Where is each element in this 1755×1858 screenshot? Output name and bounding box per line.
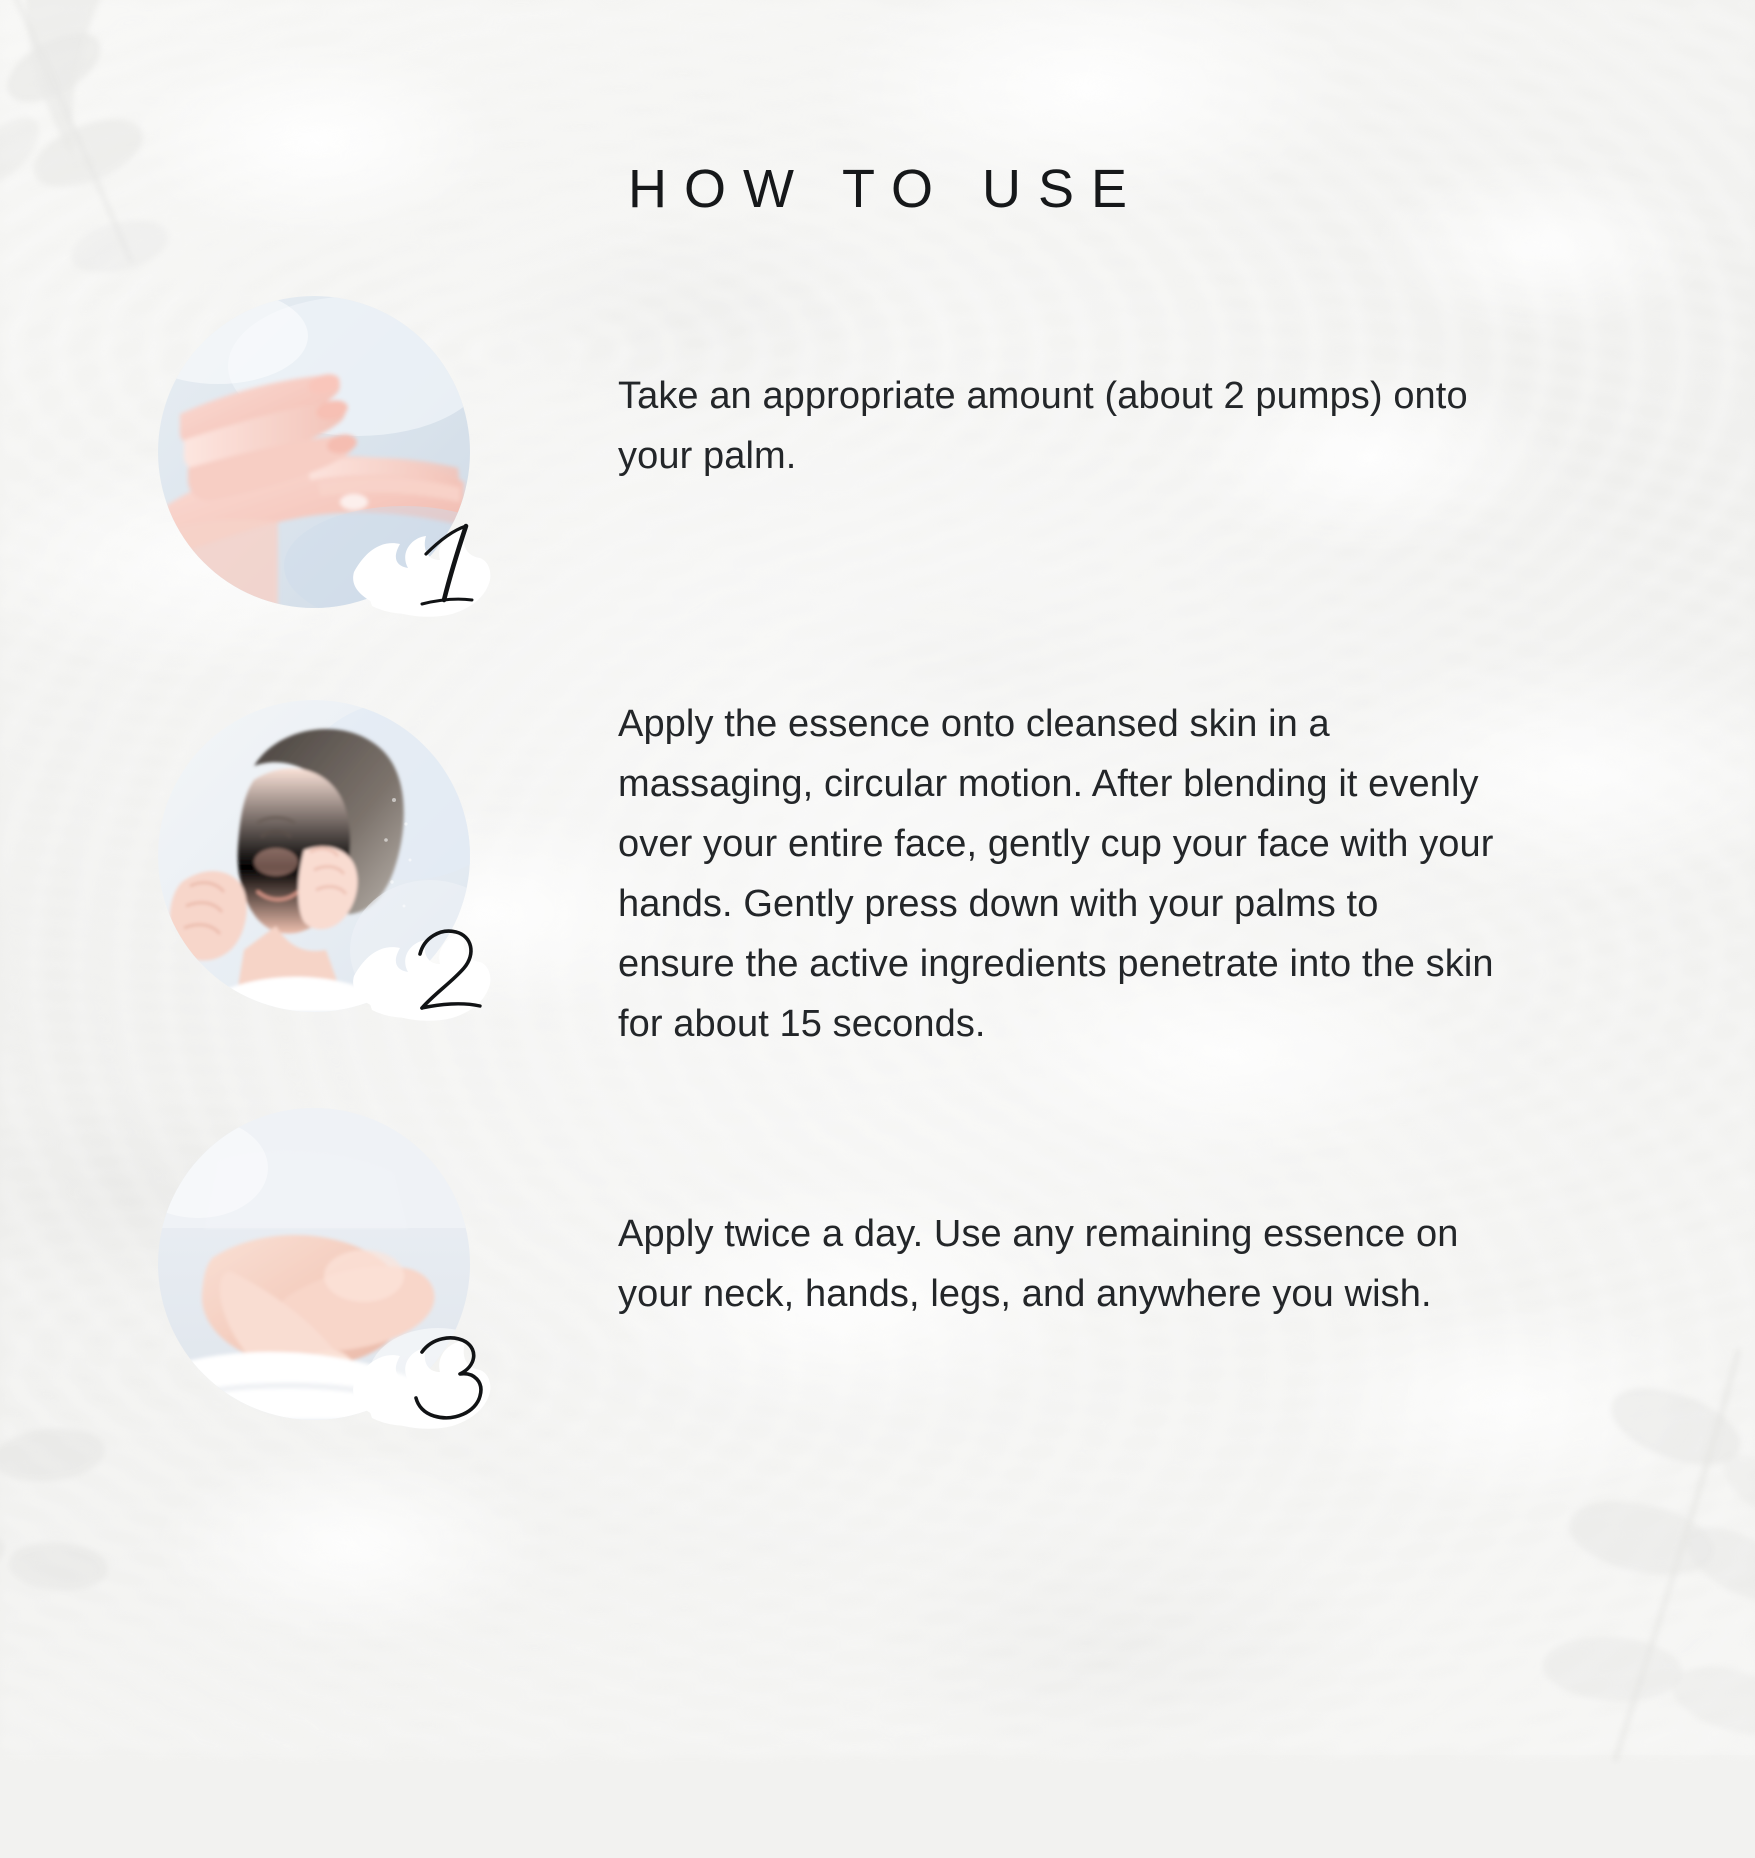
step-text: Apply twice a day. Use any remaining ess… [618,1204,1498,1324]
page-title: HOW TO USE [0,158,1755,220]
step-media [158,296,470,608]
step-photo [158,296,470,608]
step-photo [158,700,470,1012]
step-media [158,1108,470,1420]
leaf-shadow-icon [1348,1252,1755,1858]
step-text: Take an appropriate amount (about 2 pump… [618,366,1498,486]
step-media [158,700,470,1012]
step-photo [158,1108,470,1420]
step-text: Apply the essence onto cleansed skin in … [618,694,1498,1054]
